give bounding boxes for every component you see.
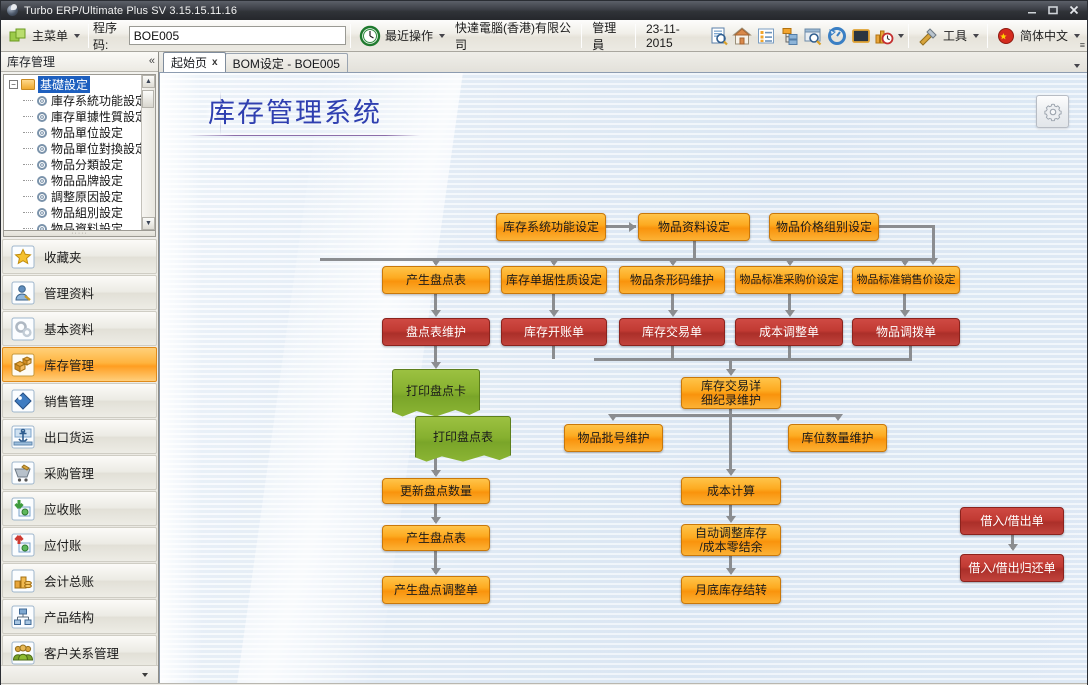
org-tree-icon[interactable]	[778, 23, 802, 49]
flow-diagram-canvas: 库存管理系统	[159, 73, 1087, 683]
flow-node-label: 成本计算	[707, 484, 755, 498]
tab-label: BOM设定 - BOE005	[233, 55, 340, 72]
flow-node-item-barcode-maintenance[interactable]: 物品条形码维护	[619, 266, 725, 294]
tree-item[interactable]: 物品分類設定	[7, 157, 155, 173]
toolbar-separator	[88, 24, 89, 48]
connector-arrow-icon	[900, 310, 910, 317]
tree-line	[23, 212, 33, 213]
tree-item[interactable]: 物品品牌設定	[7, 173, 155, 189]
flow-node-label: 自动调整库存 /成本零结余	[695, 526, 767, 554]
tree-root-label: 基礎設定	[38, 76, 90, 93]
flow-node-label: 库存交易单	[642, 325, 702, 339]
flow-node-item-master-settings[interactable]: 物品资料设定	[638, 213, 750, 241]
navigation-tree-panel: − 基礎設定 庫存系統功能設定 庫存單據性質設定	[3, 74, 156, 232]
anchor-icon	[10, 424, 36, 450]
current-date: 23-11-2015	[640, 22, 707, 50]
sidebar-item-favorites[interactable]: 收藏夹	[2, 239, 157, 274]
flow-node-label: 月底库存结转	[695, 583, 767, 597]
connector-arrow-icon	[726, 469, 736, 476]
toolbar-separator-6	[987, 24, 988, 48]
sidebar-item-purchasing[interactable]: 采购管理	[2, 455, 157, 490]
flow-node-label: 产生盘点调整单	[394, 583, 478, 597]
gear-icon	[1043, 102, 1063, 122]
application-window: Turbo ERP/Ultimate Plus SV 3.15.15.11.16…	[0, 0, 1088, 685]
flow-node-item-batch-maintenance[interactable]: 物品批号维护	[564, 424, 663, 452]
connector	[671, 346, 674, 359]
boxes-icon	[10, 352, 36, 378]
title-underline	[188, 135, 420, 136]
flow-node-stocktake-sheet-maintenance[interactable]: 盘点表维护	[382, 318, 490, 346]
money-out-icon	[10, 532, 36, 558]
sidebar-item-product-structure[interactable]: 产品结构	[2, 599, 157, 634]
connector-arrow-icon	[928, 258, 938, 265]
chevron-down-icon-5[interactable]	[142, 673, 148, 677]
sidebar-item-label: 管理资料	[44, 283, 94, 302]
sidebar-item-crm[interactable]: 客户关系管理	[2, 635, 157, 665]
flow-node-label: 库存交易详 细纪录维护	[701, 379, 761, 407]
gear-icon	[36, 175, 48, 187]
tree-line	[23, 228, 33, 229]
people-icon	[10, 640, 36, 665]
gear-icon	[36, 127, 48, 139]
toolbar-separator-4	[635, 24, 636, 48]
flow-node-generate-stocktake-sheet-top[interactable]: 产生盘点表	[382, 266, 490, 294]
flow-node-bin-quantity-maintenance[interactable]: 库位数量维护	[788, 424, 887, 452]
sidebar-item-label: 会计总账	[44, 571, 94, 590]
connector	[552, 346, 555, 359]
sidebar-item-export-shipping[interactable]: 出口货运	[2, 419, 157, 454]
connector	[879, 225, 935, 228]
flow-node-inventory-system-function-settings[interactable]: 库存系统功能设定	[496, 213, 606, 241]
tree-item[interactable]: 物品資料設定	[7, 221, 155, 232]
connector-arrow-icon	[629, 222, 636, 232]
clock-icon	[359, 25, 381, 47]
flag-globe-icon	[996, 26, 1016, 46]
flow-node-label: 物品标准销售价设定	[857, 274, 956, 287]
app-logo-icon	[6, 4, 19, 17]
gear-icon	[36, 159, 48, 171]
sidebar-item-receivables[interactable]: 应收账	[2, 491, 157, 526]
connector-arrow-icon	[431, 517, 441, 524]
chart-dropdown-caret-icon[interactable]	[898, 34, 904, 38]
connector-arrow-icon	[431, 470, 441, 477]
tree-item-label: 物品單位對換設定	[51, 140, 147, 157]
flow-node-label: 物品资料设定	[658, 220, 730, 234]
tree-line	[23, 180, 33, 181]
program-code-label: 程序码:	[93, 19, 129, 53]
connector	[909, 346, 912, 359]
main-menu-icon	[8, 26, 28, 46]
gear-icon	[36, 191, 48, 203]
connector-bus	[320, 258, 935, 261]
connector-arrow-icon	[608, 414, 618, 421]
flow-node-label: 更新盘点数量	[400, 484, 472, 498]
screen-icon[interactable]	[849, 23, 873, 49]
connector-arrow-icon	[1008, 544, 1018, 551]
money-in-icon	[10, 496, 36, 522]
connector-arrow-icon	[549, 259, 559, 266]
language-label: 简体中文	[1020, 27, 1068, 44]
flow-node-update-stocktake-qty[interactable]: 更新盘点数量	[382, 478, 490, 504]
connector-arrow-icon	[785, 259, 795, 266]
flow-node-standard-sales-price-settings[interactable]: 物品标准销售价设定	[852, 266, 960, 294]
cart-icon	[10, 460, 36, 486]
chevron-down-icon-2	[439, 34, 445, 38]
toolbar-overflow-button[interactable]: ≡	[1080, 40, 1085, 50]
main-menu-label: 主菜单	[32, 27, 68, 44]
structure-icon	[10, 604, 36, 630]
flow-node-label: 借入/借出单	[980, 514, 1043, 528]
flow-node-borrow-lend-return-doc[interactable]: 借入/借出归还单	[960, 554, 1064, 582]
tree-line	[23, 164, 33, 165]
flow-node-month-end-closing[interactable]: 月底库存结转	[681, 576, 781, 604]
minimize-button[interactable]	[1022, 2, 1042, 17]
connector-arrow-icon	[668, 310, 678, 317]
tree-item[interactable]: 庫存單據性質設定	[7, 109, 155, 125]
connector-arrow-icon	[549, 310, 559, 317]
flow-node-generate-stocktake-adjustment-doc[interactable]: 产生盘点调整单	[382, 576, 490, 604]
sidebar-item-admin-data[interactable]: 管理资料	[2, 275, 157, 310]
gear-icon	[36, 207, 48, 219]
tree-item[interactable]: 庫存系統功能設定	[7, 93, 155, 109]
language-button[interactable]: 简体中文	[992, 24, 1084, 48]
chart-clock-icon[interactable]	[872, 23, 896, 49]
tree-item-label: 物品單位設定	[51, 124, 123, 141]
recent-operations-button[interactable]: 最近操作	[355, 23, 449, 49]
flow-node-label: 打印盘点表	[433, 430, 493, 444]
navigation-tree: − 基礎設定 庫存系統功能設定 庫存單據性質設定	[4, 75, 155, 232]
connector	[788, 346, 791, 359]
tree-line	[23, 132, 33, 133]
flow-node-item-transfer-doc[interactable]: 物品调拨单	[852, 318, 960, 346]
tree-root-node[interactable]: − 基礎設定	[7, 77, 155, 93]
main-menu-button[interactable]: 主菜单	[4, 24, 84, 48]
settings-button[interactable]	[1036, 95, 1069, 128]
flow-node-inventory-opening-doc[interactable]: 库存开账单	[501, 318, 607, 346]
flow-node-item-price-group-settings[interactable]: 物品价格组别设定	[769, 213, 879, 241]
flow-node-generate-stocktake-sheet[interactable]: 产生盘点表	[382, 525, 490, 551]
sidebar-nav-more[interactable]	[1, 665, 158, 683]
sidebar-item-label: 应收账	[44, 499, 82, 518]
gear-icon	[36, 95, 48, 107]
tab-start-page[interactable]: 起始页 x	[163, 52, 226, 72]
connector	[729, 409, 732, 473]
maximize-button[interactable]	[1043, 2, 1063, 17]
connector-bus	[610, 414, 840, 417]
sidebar-item-label: 库存管理	[44, 355, 94, 374]
tree-item-label: 物品品牌設定	[51, 172, 123, 189]
flow-node-label: 成本调整单	[759, 325, 819, 339]
connector	[932, 225, 935, 261]
connector-arrow-icon	[431, 259, 441, 266]
tools-button[interactable]: 工具	[913, 24, 983, 48]
flow-node-label: 打印盘点卡	[406, 384, 466, 398]
sidebar-item-inventory[interactable]: 库存管理	[2, 347, 157, 382]
connector-arrow-icon	[431, 568, 441, 575]
scroll-down-button[interactable]: ▼	[142, 217, 155, 230]
flow-node-transaction-detail-maintenance[interactable]: 库存交易详 细纪录维护	[681, 377, 781, 409]
star-icon	[10, 244, 36, 270]
tree-item-label: 調整原因設定	[51, 188, 123, 205]
tree-line	[23, 116, 33, 117]
tree-item[interactable]: 物品單位設定	[7, 125, 155, 141]
page-title: 库存管理系统	[208, 91, 382, 130]
connector-arrow-icon	[833, 414, 843, 421]
gears-icon	[10, 316, 36, 342]
connector-arrow-icon	[726, 568, 736, 575]
tree-item-label: 庫存單據性質設定	[51, 108, 147, 125]
scroll-up-button[interactable]: ▲	[142, 75, 155, 88]
flow-node-label: 物品条形码维护	[630, 273, 714, 287]
company-name: 快達電腦(香港)有限公司	[449, 19, 577, 53]
flow-node-label: 库存系统功能设定	[503, 220, 599, 234]
program-code-input[interactable]	[129, 26, 346, 45]
flow-node-label: 物品调拨单	[876, 325, 936, 339]
connector-arrow-icon	[726, 516, 736, 523]
sidebar-item-sales[interactable]: 销售管理	[2, 383, 157, 418]
flow-node-label: 库存单据性质设定	[506, 273, 602, 287]
refresh-icon[interactable]	[825, 23, 849, 49]
sidebar-item-payables[interactable]: 应付账	[2, 527, 157, 562]
flow-node-standard-purchase-price-settings[interactable]: 物品标准采购价设定	[735, 266, 843, 294]
scroll-thumb[interactable]	[142, 90, 154, 108]
home-icon[interactable]	[731, 23, 755, 49]
connector-arrow-icon	[900, 259, 910, 266]
flow-node-label: 产生盘点表	[406, 531, 466, 545]
connector-arrow-icon	[431, 310, 441, 317]
tree-item-label: 庫存系統功能設定	[51, 92, 147, 109]
window-title: Turbo ERP/Ultimate Plus SV 3.15.15.11.16	[24, 5, 237, 17]
chevron-down-icon-4	[1074, 34, 1080, 38]
connector-arrow-icon	[726, 369, 736, 376]
sidebar-item-label: 采购管理	[44, 463, 94, 482]
flow-node-auto-adjust-zero-balance[interactable]: 自动调整库存 /成本零结余	[681, 524, 781, 556]
main-body: 库存管理 « − 基礎設定 庫存系統功能設定	[1, 52, 1087, 683]
flow-node-label: 物品价格组别设定	[776, 220, 872, 234]
tools-label: 工具	[943, 27, 967, 44]
flow-node-cost-adjustment-doc[interactable]: 成本调整单	[735, 318, 843, 346]
sidebar-title: 库存管理	[7, 53, 55, 70]
tree-item-label: 物品分類設定	[51, 156, 123, 173]
content-area: 起始页 x BOM设定 - BOE005 库存管理系统	[159, 52, 1087, 683]
current-user: 管理員	[586, 19, 631, 53]
tree-item[interactable]: 物品組別設定	[7, 205, 155, 221]
user-admin-icon	[10, 280, 36, 306]
sidebar-item-basic-data[interactable]: 基本资料	[2, 311, 157, 346]
tag-icon	[10, 388, 36, 414]
tree-expander-icon[interactable]: −	[9, 80, 18, 89]
flow-node-label: 产生盘点表	[406, 273, 466, 287]
flow-node-label: 物品标准采购价设定	[740, 274, 839, 287]
tree-line	[23, 148, 33, 149]
flow-node-inventory-transaction-doc[interactable]: 库存交易单	[619, 318, 725, 346]
window-controls	[1022, 2, 1084, 17]
chevron-down-icon-3	[973, 34, 979, 38]
sidebar-item-label: 客户关系管理	[44, 643, 119, 662]
close-button[interactable]	[1064, 2, 1084, 17]
tab-close-icon[interactable]: x	[212, 57, 218, 68]
connector-arrow-icon	[668, 259, 678, 266]
tree-line	[23, 100, 33, 101]
flow-node-label: 库位数量维护	[801, 431, 873, 445]
sidebar-item-label: 出口货运	[44, 427, 94, 446]
tab-label: 起始页	[171, 54, 207, 71]
tabstrip-overflow-icon[interactable]	[1074, 64, 1080, 68]
tab-strip: 起始页 x BOM设定 - BOE005	[159, 52, 1087, 73]
toolbar-separator-2	[350, 24, 351, 48]
list-icon[interactable]	[754, 23, 778, 49]
sidebar-item-general-ledger[interactable]: 会计总账	[2, 563, 157, 598]
gear-icon	[36, 143, 48, 155]
sidebar: 库存管理 « − 基礎設定 庫存系統功能設定	[1, 52, 159, 683]
flow-node-print-stocktake-sheet[interactable]: 打印盘点表	[415, 416, 511, 464]
connector-bus	[594, 358, 912, 361]
flow-node-label: 盘点表维护	[406, 325, 466, 339]
chevron-down-icon	[74, 34, 80, 38]
folder-icon	[21, 79, 35, 90]
search-report-icon[interactable]	[707, 23, 731, 49]
tree-item-label: 物品組別設定	[51, 204, 123, 221]
sidebar-item-label: 收藏夹	[44, 247, 82, 266]
tree-scrollbar[interactable]: ▲ ▼	[141, 75, 155, 231]
flow-node-label: 借入/借出归还单	[968, 561, 1055, 575]
toolbar-separator-3	[581, 24, 582, 48]
sidebar-header: 库存管理 «	[1, 52, 158, 72]
sidebar-item-label: 销售管理	[44, 391, 94, 410]
flow-node-label: 物品批号维护	[577, 431, 649, 445]
query-icon[interactable]	[801, 23, 825, 49]
main-toolbar: 主菜单 程序码: 最近操作 快達電腦(香港)有限公司 管理員 23-11-201…	[1, 20, 1087, 52]
flow-node-borrow-lend-doc[interactable]: 借入/借出单	[960, 507, 1064, 535]
title-bar: Turbo ERP/Ultimate Plus SV 3.15.15.11.16	[1, 1, 1087, 20]
flow-node-cost-calculation[interactable]: 成本计算	[681, 477, 781, 505]
sidebar-item-label: 基本资料	[44, 319, 94, 338]
flow-node-inventory-doc-type-settings[interactable]: 库存单据性质设定	[501, 266, 607, 294]
tab-bom-settings[interactable]: BOM设定 - BOE005	[225, 53, 348, 72]
gear-icon	[36, 223, 48, 232]
tools-icon	[917, 26, 939, 46]
coins-icon	[10, 568, 36, 594]
sidebar-collapse-button[interactable]: «	[149, 55, 154, 67]
toolbar-separator-5	[908, 24, 909, 48]
flow-node-print-stocktake-card[interactable]: 打印盘点卡	[392, 369, 480, 419]
sidebar-nav-list: 收藏夹 管理资料 基本资料	[1, 237, 158, 665]
sidebar-item-label: 产品结构	[44, 607, 94, 626]
tree-line	[23, 196, 33, 197]
recent-operations-label: 最近操作	[385, 27, 433, 44]
sidebar-item-label: 应付账	[44, 535, 82, 554]
tree-item-label: 物品資料設定	[51, 220, 123, 231]
connector-arrow-icon	[431, 362, 441, 369]
tree-item[interactable]: 調整原因設定	[7, 189, 155, 205]
connector-arrow-icon	[785, 310, 795, 317]
gear-icon	[36, 111, 48, 123]
tree-item[interactable]: 物品單位對換設定	[7, 141, 155, 157]
flow-node-label: 库存开账单	[524, 325, 584, 339]
